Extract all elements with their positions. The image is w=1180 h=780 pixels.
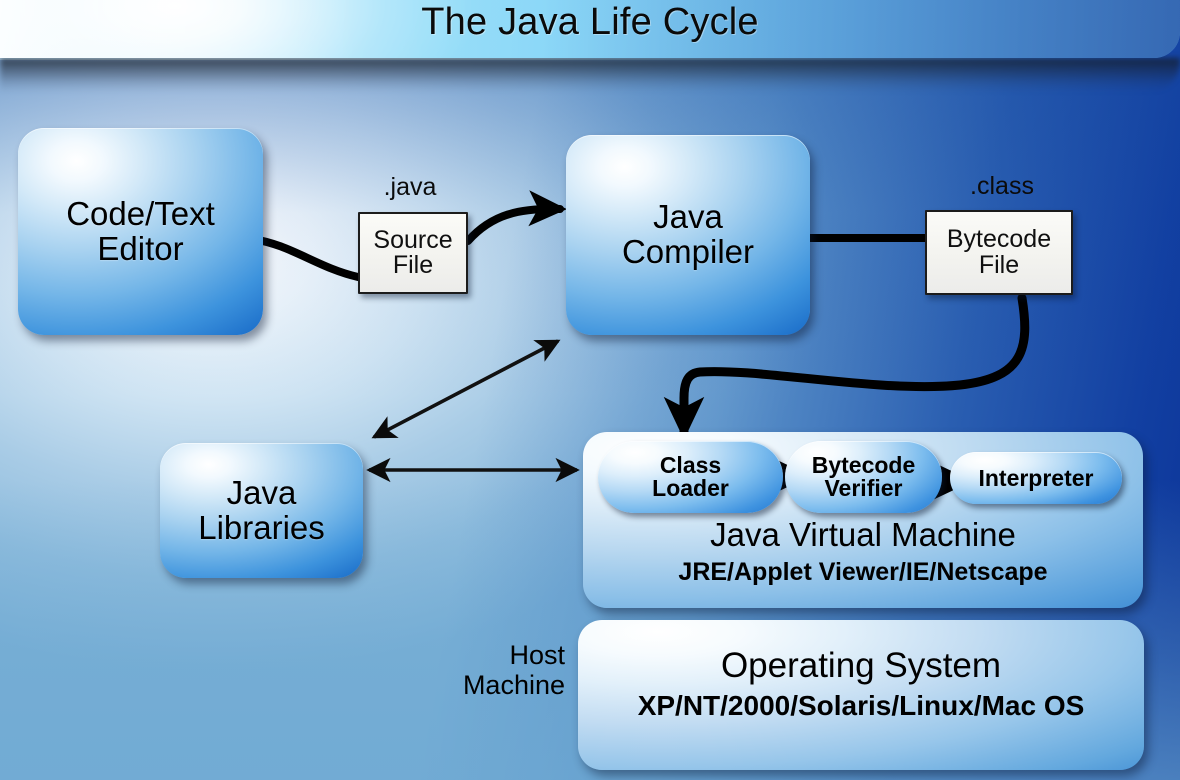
node-interpreter[interactable]: Interpreter [950, 452, 1122, 504]
node-bytecode-file-label: Bytecode File [947, 227, 1051, 278]
node-java-compiler[interactable]: Java Compiler [566, 135, 810, 335]
node-bytecode-verifier-label: Bytecode Verifier [812, 454, 916, 500]
node-operating-system[interactable]: Operating System XP/NT/2000/Solaris/Linu… [578, 620, 1144, 770]
diagram-canvas: The Java Life Cycle Code/Text Editor .ja… [0, 0, 1180, 780]
node-bytecode-verifier[interactable]: Bytecode Verifier [785, 441, 942, 513]
node-java-libraries[interactable]: Java Libraries [160, 443, 363, 578]
node-java-compiler-label: Java Compiler [622, 200, 754, 270]
node-java-libraries-label: Java Libraries [198, 476, 325, 546]
jvm-subtitle: JRE/Applet Viewer/IE/Netscape [583, 558, 1143, 587]
node-class-loader[interactable]: Class Loader [598, 441, 783, 513]
bytecode-file-extension-label: .class [932, 172, 1072, 201]
node-bytecode-file[interactable]: Bytecode File [925, 210, 1073, 295]
banner-drop-shadow [0, 58, 1180, 92]
os-title: Operating System [578, 646, 1144, 686]
node-source-file-label: Source File [373, 228, 452, 279]
page-title: The Java Life Cycle [0, 1, 1180, 44]
node-source-file[interactable]: Source File [358, 212, 468, 294]
title-banner: The Java Life Cycle [0, 0, 1180, 58]
jvm-title: Java Virtual Machine [583, 516, 1143, 554]
node-code-text-editor[interactable]: Code/Text Editor [18, 128, 263, 335]
source-file-extension-label: .java [350, 173, 470, 202]
os-subtitle: XP/NT/2000/Solaris/Linux/Mac OS [578, 690, 1144, 722]
node-class-loader-label: Class Loader [652, 454, 729, 500]
node-code-text-editor-label: Code/Text Editor [66, 197, 215, 267]
node-interpreter-label: Interpreter [978, 467, 1093, 490]
host-machine-label: Host Machine [400, 640, 565, 700]
